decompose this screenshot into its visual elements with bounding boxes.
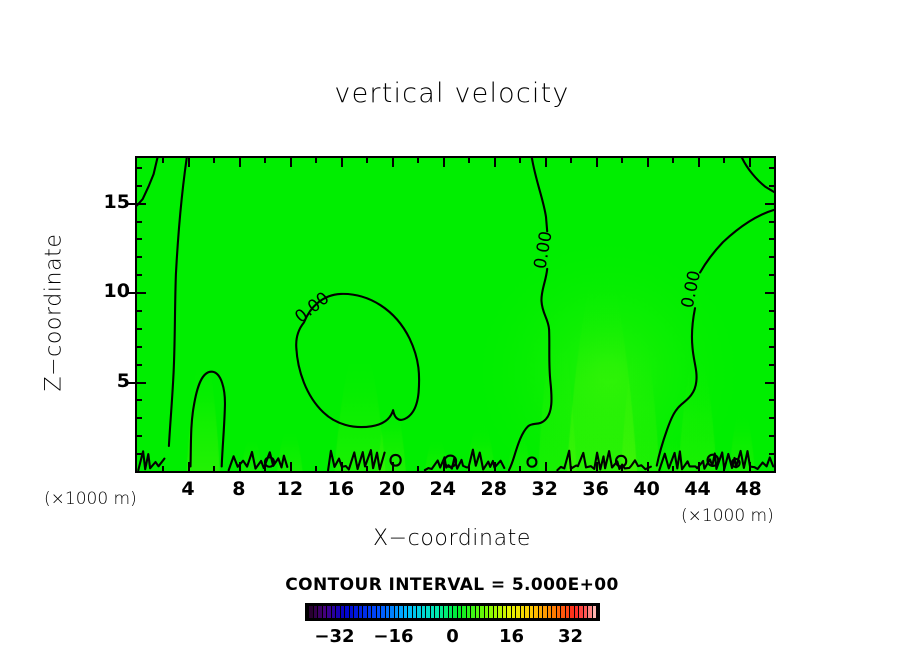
- y-tick-left: [137, 310, 142, 312]
- y-tick-left: [137, 203, 146, 205]
- colorbar-swatch: [467, 606, 471, 618]
- contour-surface-noise: [425, 450, 504, 470]
- y-tick-right: [769, 256, 774, 258]
- contour-44-lower: [657, 308, 697, 465]
- y-axis-units: (×1000 m): [44, 489, 137, 509]
- contour-interval-caption: CONTOUR INTERVAL = 5.000E+00: [0, 575, 904, 595]
- colorbar-tick-label: 32: [546, 626, 596, 647]
- colorbar-tick-label: −16: [369, 626, 419, 647]
- contour-surface-noise: [229, 452, 288, 470]
- colorbar-swatch: [552, 606, 556, 618]
- x-tick-bottom: [264, 466, 266, 471]
- colorbar-swatch: [390, 606, 394, 618]
- colorbar-swatch: [359, 606, 363, 618]
- colorbar-swatch: [548, 606, 552, 618]
- x-tick-bottom: [494, 462, 496, 471]
- x-tick-top: [468, 158, 470, 163]
- colorbar-swatch: [462, 606, 466, 618]
- contour-surface-noise: [659, 451, 773, 470]
- contour-topright: [742, 158, 774, 192]
- x-tick-top: [443, 158, 445, 167]
- x-tick-top: [290, 158, 292, 167]
- colorbar-swatch: [588, 606, 592, 618]
- x-tick-label: 48: [729, 478, 769, 500]
- x-tick-bottom: [341, 462, 343, 471]
- colorbar-swatch: [566, 606, 570, 618]
- y-tick-left: [137, 399, 142, 401]
- x-tick-label: 36: [576, 478, 616, 500]
- x-tick-label: 4: [168, 478, 208, 500]
- x-tick-bottom: [698, 462, 700, 471]
- x-tick-bottom: [392, 462, 394, 471]
- colorbar-swatch: [413, 606, 417, 618]
- y-tick-right: [769, 346, 774, 348]
- x-tick-label: 12: [270, 478, 310, 500]
- y-tick-right: [769, 453, 774, 455]
- contour-label: 0.00: [678, 269, 705, 310]
- x-tick-bottom: [162, 466, 164, 471]
- contour-32-top: [532, 158, 547, 231]
- colorbar-swatch: [453, 606, 457, 618]
- y-tick-left: [137, 256, 142, 258]
- contour-plume-5: [191, 372, 225, 467]
- x-tick-top: [672, 158, 674, 163]
- colorbar-swatch: [363, 606, 367, 618]
- y-tick-left: [137, 292, 146, 294]
- x-tick-label: 16: [321, 478, 361, 500]
- x-tick-label: 8: [219, 478, 259, 500]
- colorbar-swatch: [476, 606, 480, 618]
- y-tick-right: [769, 185, 774, 187]
- y-tick-right: [769, 435, 774, 437]
- y-tick-left: [137, 364, 142, 366]
- colorbar-swatch: [354, 606, 358, 618]
- contour-44-upper: [700, 210, 774, 273]
- x-tick-top: [417, 158, 419, 163]
- x-tick-label: 44: [678, 478, 718, 500]
- colorbar-swatch: [530, 606, 534, 618]
- x-tick-top: [392, 158, 394, 167]
- x-tick-bottom: [570, 466, 572, 471]
- colorbar-swatch: [498, 606, 502, 618]
- colorbar-swatch: [440, 606, 444, 618]
- x-tick-bottom: [315, 466, 317, 471]
- y-tick-right: [765, 203, 774, 205]
- x-tick-top: [621, 158, 623, 163]
- x-tick-bottom: [545, 462, 547, 471]
- colorbar-swatch: [485, 606, 489, 618]
- x-tick-top: [264, 158, 266, 163]
- colorbar-swatch: [417, 606, 421, 618]
- y-tick-right: [769, 221, 774, 223]
- x-tick-top: [239, 158, 241, 167]
- colorbar-swatch: [570, 606, 574, 618]
- colorbar-swatch: [435, 606, 439, 618]
- y-tick-right: [769, 364, 774, 366]
- colorbar-swatch: [539, 606, 543, 618]
- colorbar-swatch: [404, 606, 408, 618]
- page-title: vertical velocity: [0, 78, 904, 109]
- x-axis-title: X−coordinate: [0, 526, 904, 551]
- colorbar-swatch: [332, 606, 336, 618]
- x-tick-top: [723, 158, 725, 163]
- colorbar-swatch: [503, 606, 507, 618]
- colorbar-swatch: [575, 606, 579, 618]
- x-tick-top: [213, 158, 215, 163]
- x-tick-top: [596, 158, 598, 167]
- x-tick-bottom: [366, 466, 368, 471]
- x-tick-bottom: [213, 466, 215, 471]
- x-tick-bottom: [468, 466, 470, 471]
- x-axis-units: (×1000 m): [681, 506, 774, 526]
- y-tick-right: [765, 382, 774, 384]
- colorbar: [305, 603, 600, 621]
- colorbar-swatch: [489, 606, 493, 618]
- y-tick-label: 5: [96, 370, 130, 392]
- y-tick-right: [769, 328, 774, 330]
- colorbar-swatch: [377, 606, 381, 618]
- colorbar-swatch: [426, 606, 430, 618]
- colorbar-swatch: [408, 606, 412, 618]
- colorbar-swatch: [516, 606, 520, 618]
- y-tick-label: 10: [96, 280, 130, 302]
- colorbar-swatch: [471, 606, 475, 618]
- colorbar-swatch: [494, 606, 498, 618]
- x-tick-bottom: [519, 466, 521, 471]
- x-tick-top: [315, 158, 317, 163]
- colorbar-swatch: [593, 606, 597, 618]
- x-tick-bottom: [672, 466, 674, 471]
- x-tick-label: 20: [372, 478, 412, 500]
- colorbar-swatch: [368, 606, 372, 618]
- x-tick-top: [162, 158, 164, 163]
- contour-label: 0.00: [291, 288, 333, 327]
- colorbar-swatch: [399, 606, 403, 618]
- colorbar-swatch: [584, 606, 588, 618]
- y-tick-left: [137, 185, 142, 187]
- colorbar-swatch: [458, 606, 462, 618]
- x-tick-bottom: [443, 462, 445, 471]
- contour-surface-noise: [138, 451, 164, 470]
- colorbar-swatch: [543, 606, 547, 618]
- plot-area: 0.000.000.00: [135, 156, 776, 473]
- contour-line-left: [137, 158, 157, 205]
- x-tick-top: [341, 158, 343, 167]
- colorbar-swatch: [521, 606, 525, 618]
- y-axis-title: Z−coordinate: [42, 203, 67, 423]
- x-tick-top: [494, 158, 496, 167]
- colorbar-swatch: [372, 606, 376, 618]
- x-tick-bottom: [723, 466, 725, 471]
- y-tick-right: [769, 238, 774, 240]
- contour-plot-page: vertical velocity 0.000.000.00 481216202…: [0, 0, 904, 654]
- colorbar-swatch: [444, 606, 448, 618]
- x-tick-bottom: [417, 466, 419, 471]
- colorbar-swatch: [395, 606, 399, 618]
- y-tick-left: [137, 435, 142, 437]
- x-tick-label: 40: [627, 478, 667, 500]
- x-tick-top: [366, 158, 368, 163]
- x-tick-bottom: [621, 466, 623, 471]
- y-tick-left: [137, 346, 142, 348]
- colorbar-swatch: [512, 606, 516, 618]
- y-tick-left: [137, 167, 142, 169]
- y-tick-left: [137, 417, 142, 419]
- contour-surface-noise: [328, 450, 385, 470]
- colorbar-swatch: [561, 606, 565, 618]
- colorbar-swatch: [336, 606, 340, 618]
- y-tick-left: [137, 328, 142, 330]
- y-tick-right: [769, 274, 774, 276]
- x-tick-bottom: [647, 462, 649, 471]
- y-tick-right: [769, 167, 774, 169]
- contour-line-left2: [169, 158, 187, 446]
- colorbar-swatch: [345, 606, 349, 618]
- y-tick-label: 15: [96, 191, 130, 213]
- x-tick-label: 32: [525, 478, 565, 500]
- colorbar-swatch: [449, 606, 453, 618]
- colorbar-tick-label: 0: [428, 626, 478, 647]
- colorbar-swatch: [381, 606, 385, 618]
- colorbar-swatch: [309, 606, 313, 618]
- y-tick-left: [137, 238, 142, 240]
- colorbar-swatch: [507, 606, 511, 618]
- x-tick-label: 24: [423, 478, 463, 500]
- x-tick-top: [698, 158, 700, 167]
- x-tick-top: [519, 158, 521, 163]
- colorbar-swatch: [557, 606, 561, 618]
- contour-32-bottom: [509, 269, 552, 470]
- x-tick-bottom: [239, 462, 241, 471]
- x-tick-top: [188, 158, 190, 167]
- x-tick-top: [647, 158, 649, 167]
- colorbar-swatch: [314, 606, 318, 618]
- y-tick-right: [769, 399, 774, 401]
- y-tick-right: [769, 310, 774, 312]
- y-tick-left: [137, 221, 142, 223]
- colorbar-swatch: [579, 606, 583, 618]
- y-tick-left: [137, 382, 146, 384]
- colorbar-swatch: [386, 606, 390, 618]
- colorbar-swatch: [422, 606, 426, 618]
- colorbar-swatch: [341, 606, 345, 618]
- colorbar-swatch: [525, 606, 529, 618]
- y-tick-left: [137, 274, 142, 276]
- x-tick-top: [570, 158, 572, 163]
- colorbar-tick-label: 16: [487, 626, 537, 647]
- colorbar-swatch: [534, 606, 538, 618]
- x-tick-bottom: [188, 462, 190, 471]
- contour-small-loop: [528, 457, 537, 466]
- colorbar-tick-label: −32: [310, 626, 360, 647]
- x-tick-label: 28: [474, 478, 514, 500]
- y-tick-right: [765, 292, 774, 294]
- x-tick-bottom: [596, 462, 598, 471]
- x-tick-top: [749, 158, 751, 167]
- colorbar-swatch: [327, 606, 331, 618]
- x-tick-bottom: [749, 462, 751, 471]
- contour-label: 0.00: [530, 230, 556, 271]
- colorbar-swatch: [318, 606, 322, 618]
- colorbar-swatch: [350, 606, 354, 618]
- y-tick-left: [137, 453, 142, 455]
- colorbar-swatch: [480, 606, 484, 618]
- x-tick-top: [545, 158, 547, 167]
- x-tick-bottom: [290, 462, 292, 471]
- colorbar-swatch: [323, 606, 327, 618]
- contour-lines: 0.000.000.00: [137, 158, 774, 471]
- y-tick-right: [769, 417, 774, 419]
- colorbar-swatch: [431, 606, 435, 618]
